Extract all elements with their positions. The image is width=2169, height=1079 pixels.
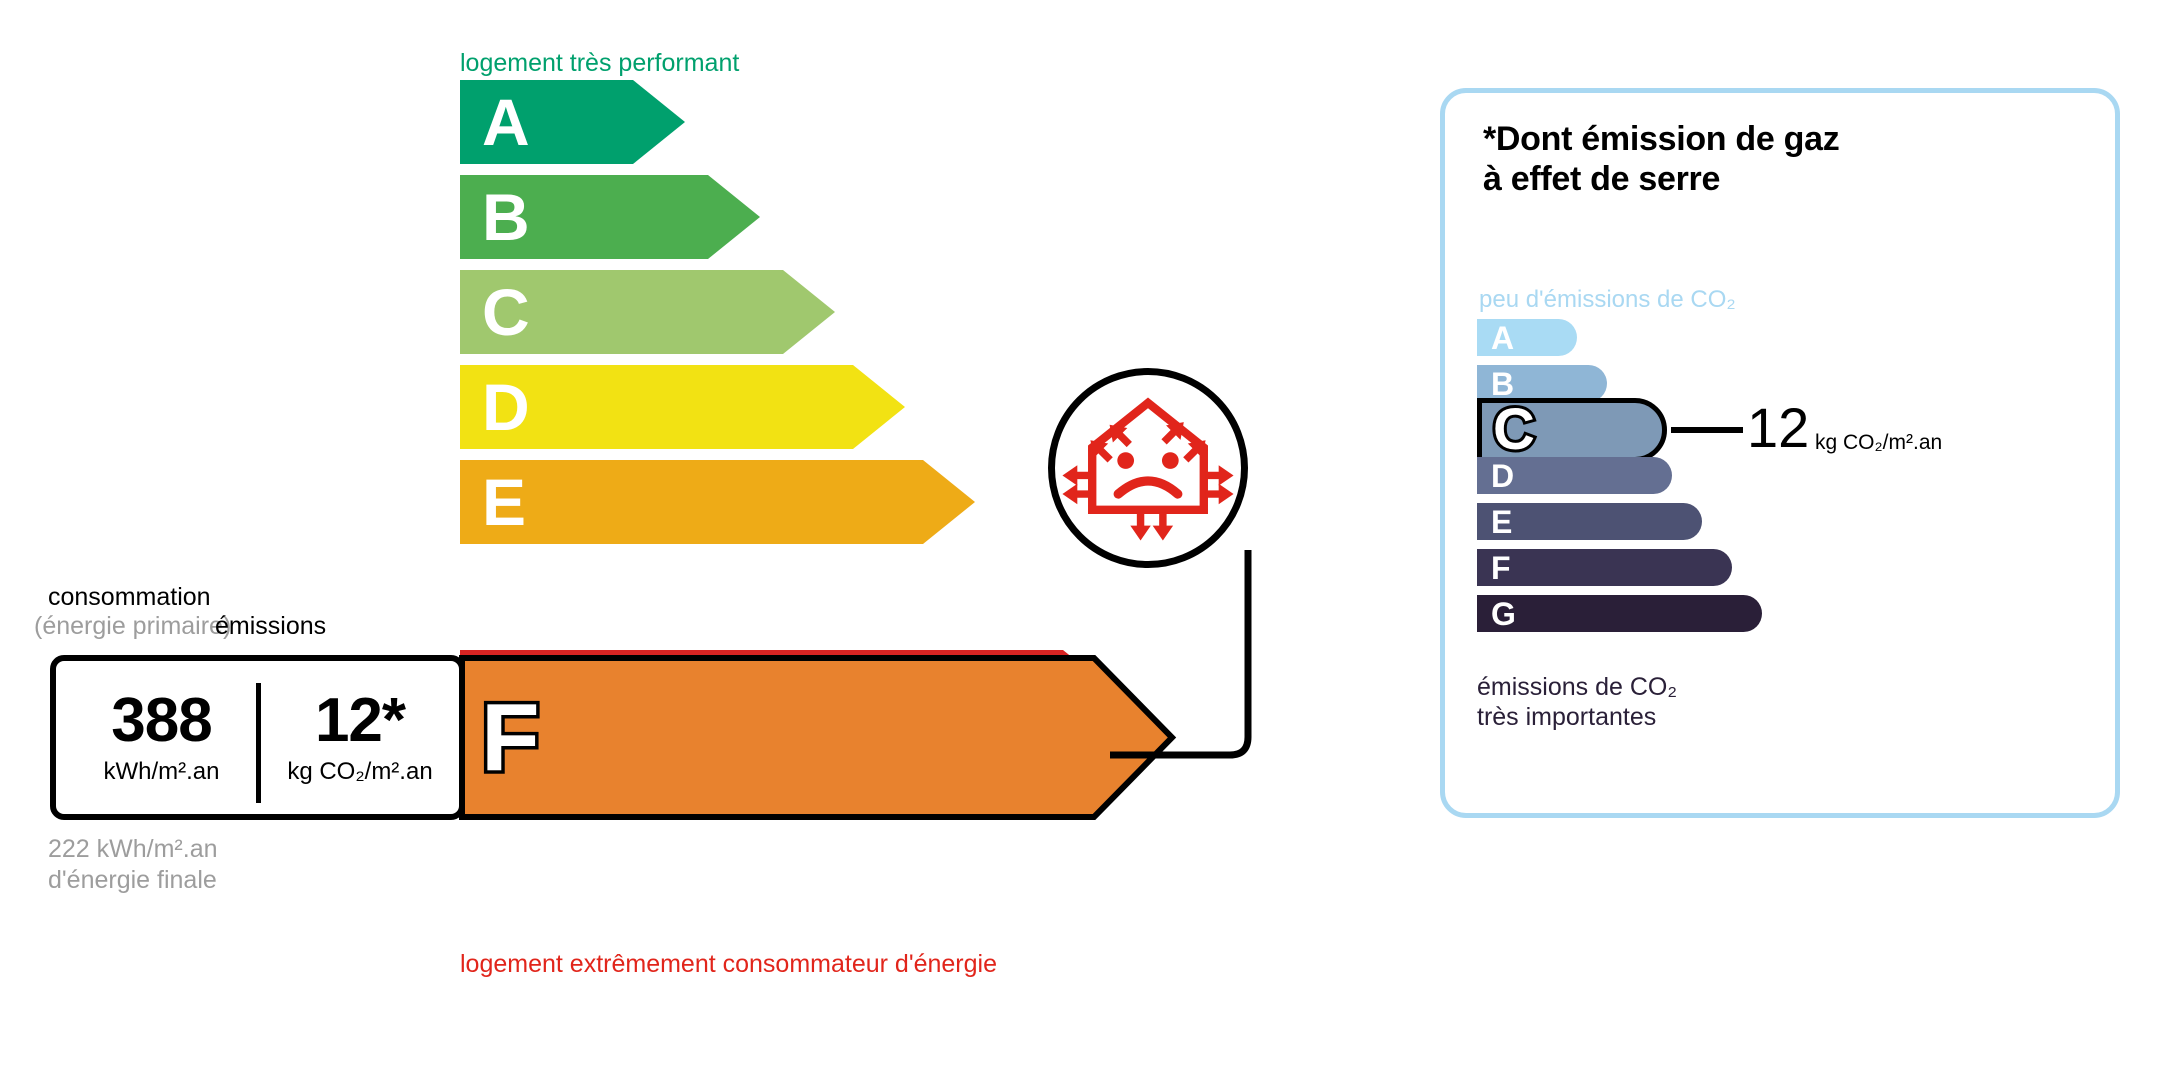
energy-bar-letter-A: A (482, 89, 530, 155)
ghg-bar-letter-D: D (1491, 460, 1514, 492)
emissions-value: 12* (315, 690, 405, 752)
ghg-bar-fill-F (1477, 549, 1732, 586)
energy-bar-letter-D: D (482, 374, 530, 440)
energy-bar-F (459, 655, 1181, 820)
ghg-emissions-panel: *Dont émission de gaz à effet de serre p… (1440, 88, 2120, 818)
bubble-connector (1080, 540, 1260, 770)
ghg-bar-letter-A: A (1491, 322, 1514, 354)
ghg-bar-E: E (1477, 503, 1702, 540)
energy-bar-letter-F: F (481, 690, 540, 786)
ghg-top-label: peu d'émissions de CO₂ (1479, 286, 1736, 314)
energy-bar-B: B (460, 175, 760, 259)
ghg-bar-letter-C: C (1493, 401, 1535, 459)
emissions-value-cell: 12* kg CO₂/m².an (261, 661, 459, 814)
ghg-bar-letter-E: E (1491, 506, 1512, 538)
value-box-divider (256, 683, 261, 803)
ghg-bar-G: G (1477, 595, 1762, 632)
ghg-bar-A: A (1477, 319, 1577, 356)
consumption-subcaption: (énergie primaire) (34, 612, 231, 641)
ghg-bottom-label: émissions de CO₂ très importantes (1477, 673, 1677, 732)
consumption-unit: kWh/m².an (103, 758, 219, 786)
energy-bar-C: C (460, 270, 835, 354)
ghg-value-unit: kg CO₂/m².an (1815, 432, 1942, 453)
ghg-bar-letter-G: G (1491, 598, 1516, 630)
emissions-caption: émissions (215, 612, 326, 641)
energy-value-box: 388 kWh/m².an 12* kg CO₂/m².an (50, 655, 465, 820)
ghg-bar-letter-F: F (1491, 552, 1511, 584)
energy-bar-letter-C: C (482, 279, 530, 345)
ghg-value: 12 (1747, 400, 1809, 456)
ghg-value-leader-line (1671, 427, 1743, 433)
final-energy-line-2: d'énergie finale (48, 866, 217, 895)
consumption-value-cell: 388 kWh/m².an (64, 661, 259, 814)
scale-top-label: logement très performant (460, 49, 739, 78)
sad-house-heat-loss-icon (1055, 375, 1241, 561)
ghg-bar-F: F (1477, 549, 1732, 586)
scale-bottom-label: logement extrêmement consommateur d'éner… (460, 950, 997, 979)
energy-rating-bubble (1048, 368, 1248, 568)
ghg-panel-title: *Dont émission de gaz à effet de serre (1483, 119, 1839, 199)
ghg-bar-D: D (1477, 457, 1672, 494)
ghg-bar-letter-B: B (1491, 368, 1514, 400)
ghg-bar-fill-G (1477, 595, 1762, 632)
consumption-value: 388 (111, 690, 211, 752)
energy-bar-D: D (460, 365, 905, 449)
dpe-infographic: logement très performant ABCDEG 388 kWh/… (0, 0, 2169, 1079)
energy-performance-scale: logement très performant ABCDEG 388 kWh/… (0, 0, 1300, 1079)
energy-bar-letter-E: E (482, 469, 526, 535)
final-energy-line-1: 222 kWh/m².an (48, 835, 218, 864)
emissions-unit: kg CO₂/m².an (287, 758, 432, 786)
energy-bar-E: E (460, 460, 975, 544)
energy-bar-letter-B: B (482, 184, 530, 250)
consumption-caption: consommation (48, 583, 211, 612)
energy-bar-A: A (460, 80, 685, 164)
ghg-bar-C: C (1477, 398, 1667, 462)
